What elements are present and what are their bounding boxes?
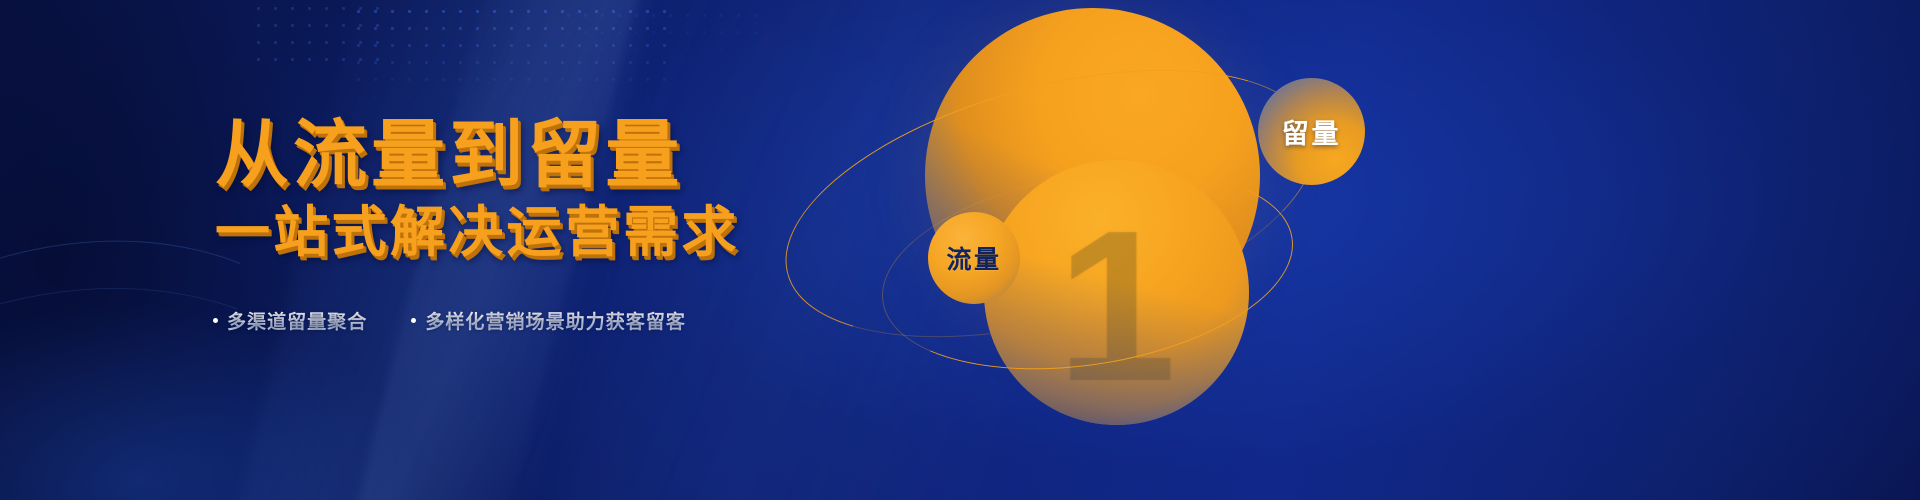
banner-illustration: 1 流量 留量	[760, 0, 1920, 500]
promo-banner: 从流量到留量 一站式解决运营需求 多渠道留量聚合 多样化营销场景助力获客留客 1…	[0, 0, 1920, 500]
feature-bullet-label: 多渠道留量聚合	[227, 307, 367, 334]
feature-bullet-item: 多样化营销场景助力获客留客	[411, 307, 686, 334]
feature-bullet-item: 多渠道留量聚合	[213, 307, 367, 334]
bullet-dot-icon	[411, 318, 416, 323]
banner-text-block: 从流量到留量 一站式解决运营需求 多渠道留量聚合 多样化营销场景助力获客留客	[0, 0, 760, 500]
numeral-one: 1	[984, 204, 1249, 408]
feature-bullet-list: 多渠道留量聚合 多样化营销场景助力获客留客	[213, 307, 686, 334]
sphere-label-traffic: 流量	[928, 212, 1020, 304]
headline-primary: 从流量到留量	[215, 118, 683, 192]
sphere-label-retention: 留量	[1258, 78, 1365, 185]
sphere-inner-medium: 1	[984, 160, 1249, 425]
headline-secondary: 一站式解决运营需求	[215, 205, 740, 260]
feature-bullet-label: 多样化营销场景助力获客留客	[425, 307, 686, 334]
bullet-dot-icon	[213, 318, 218, 323]
